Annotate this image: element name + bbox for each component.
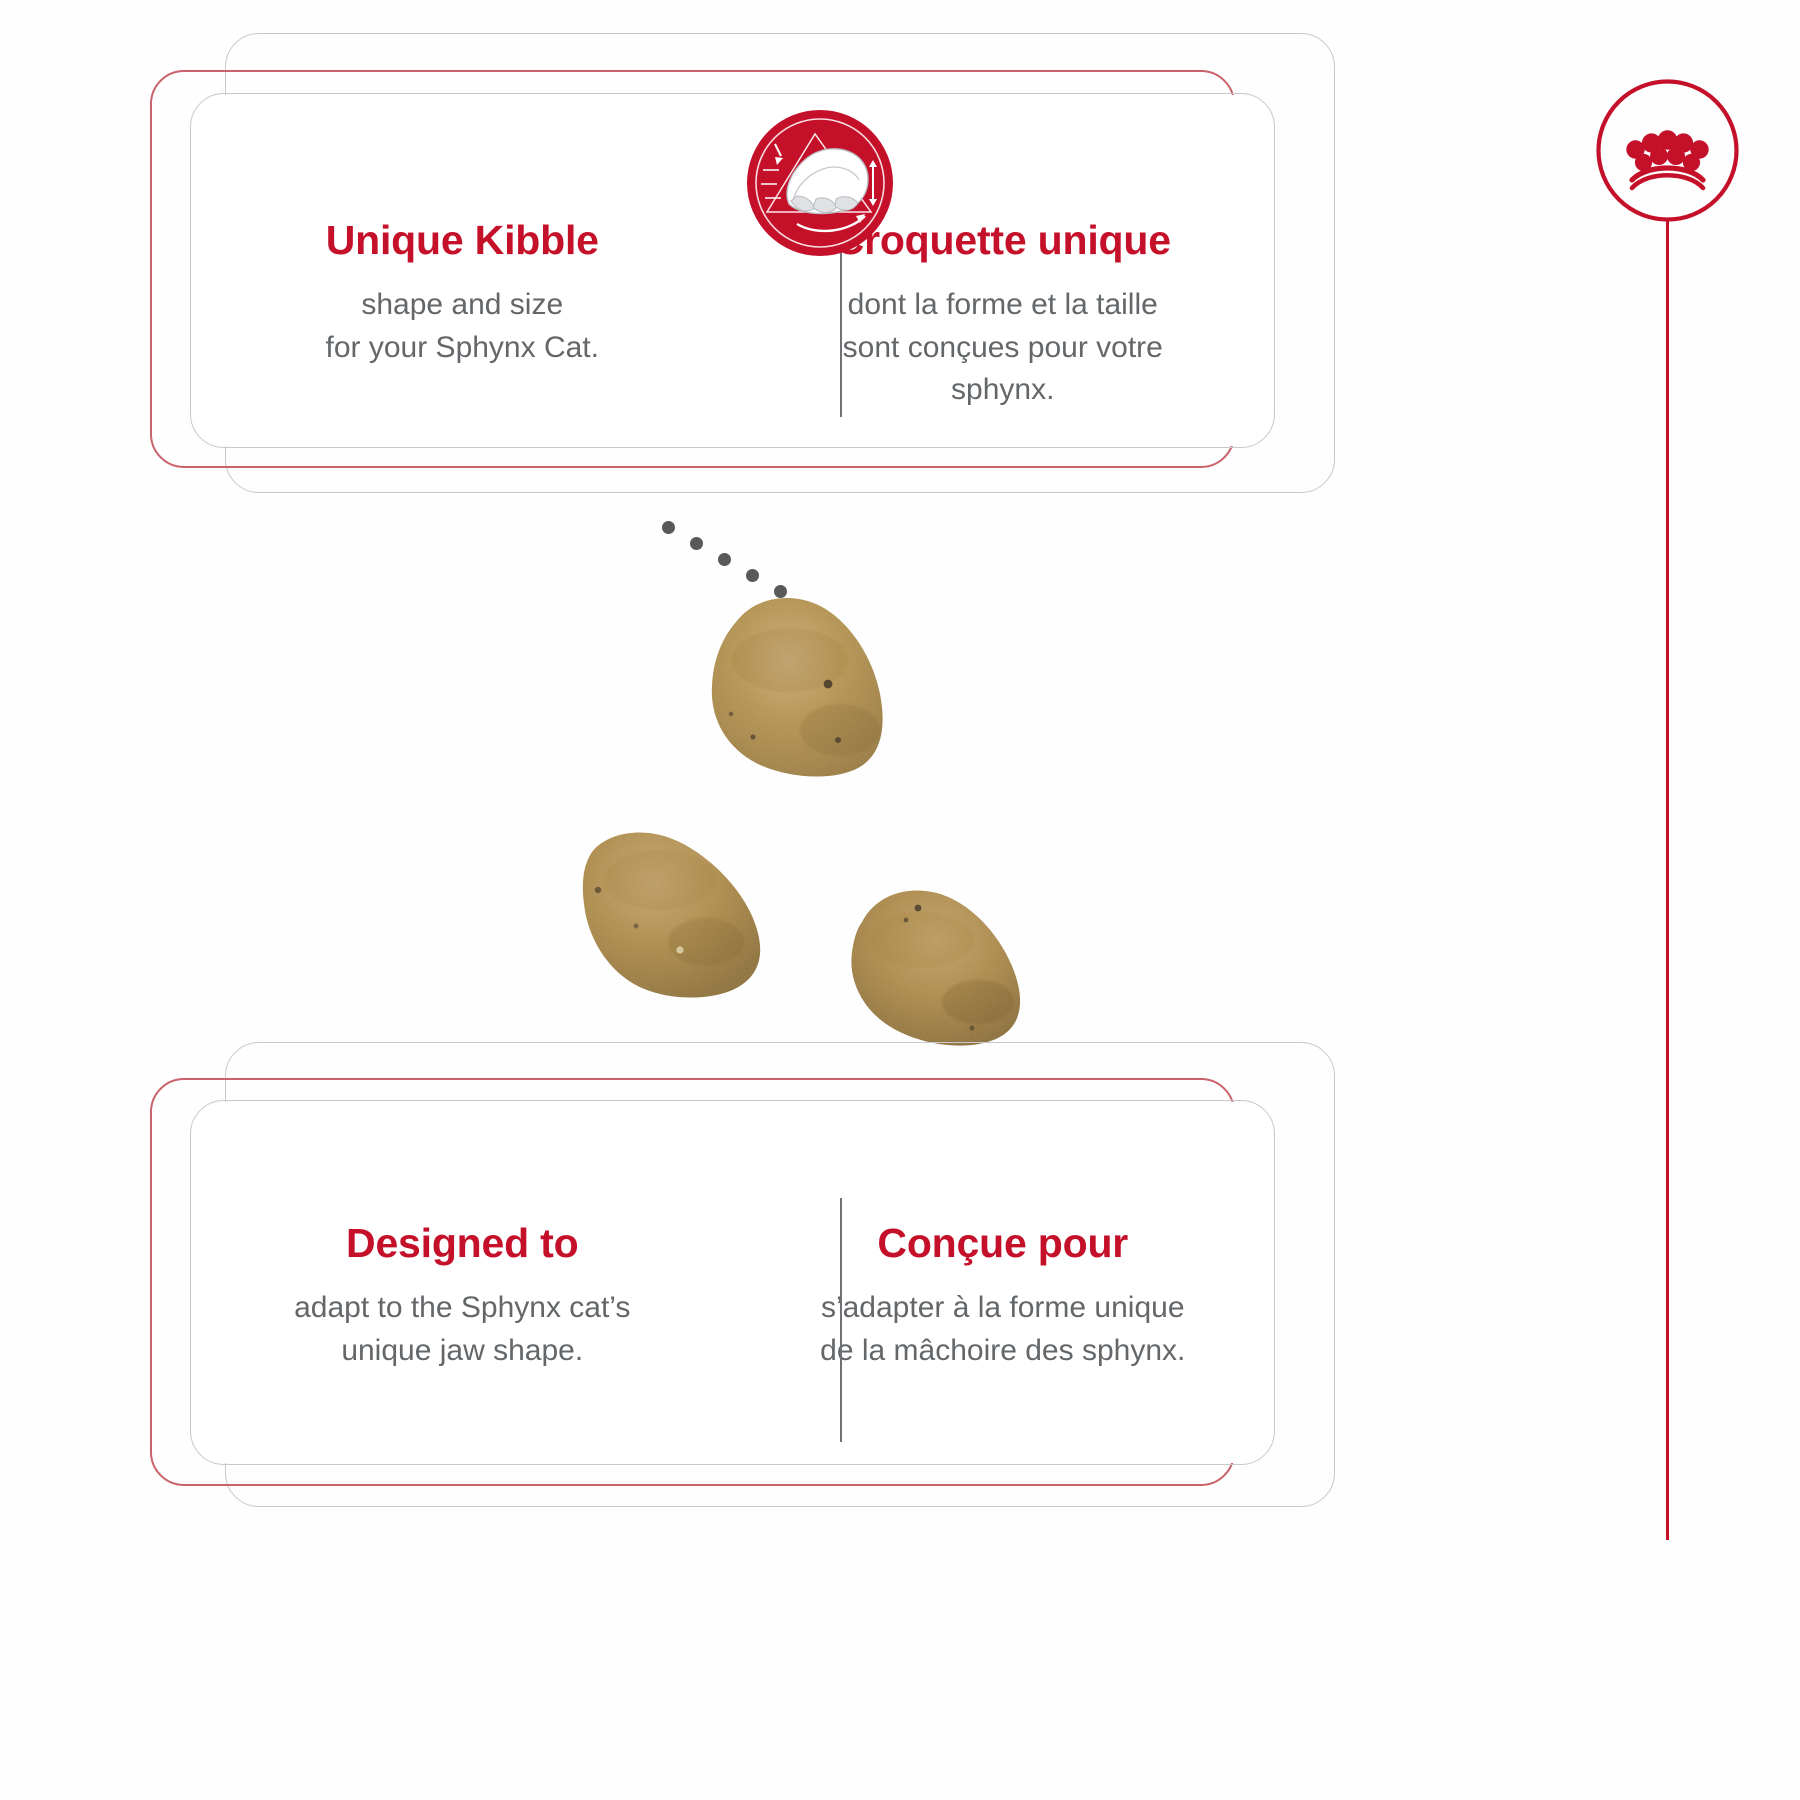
royal-canin-logo-stem [1666,220,1669,1540]
page-canvas: Unique Kibble shape and size for your Sp… [0,0,1800,1800]
top-panel-card: Unique Kibble shape and size for your Sp… [192,95,1273,446]
kibble-measurement-icon [745,108,895,258]
bottom-panel-column-french: Conçue pour s’adapter à la forme unique … [733,1102,1274,1463]
kibble-piece-3 [851,890,1020,1045]
top-panel-column-english: Unique Kibble shape and size for your Sp… [192,95,733,446]
top-panel-columns: Unique Kibble shape and size for your Sp… [192,95,1273,446]
bottom-panel-columns: Designed to adapt to the Sphynx cat’s un… [192,1102,1273,1463]
bottom-panel-heading-english: Designed to [346,1222,578,1265]
kibble-piece-2 [583,833,760,998]
bottom-panel-card: Designed to adapt to the Sphynx cat’s un… [192,1102,1273,1463]
top-panel-body-french: dont la forme et la taille sont conçues … [843,284,1163,412]
top-panel-body-english: shape and size for your Sphynx Cat. [326,284,599,369]
royal-canin-crown-icon [1595,78,1740,223]
bottom-panel-column-divider [840,1198,842,1442]
bottom-panel-body-french: s’adapter à la forme unique de la mâchoi… [820,1287,1185,1372]
bottom-panel-column-english: Designed to adapt to the Sphynx cat’s un… [192,1102,733,1463]
top-panel-heading-english: Unique Kibble [326,219,599,262]
bottom-panel-heading-french: Conçue pour [877,1222,1128,1265]
sphynx-cat-kibble-photo [540,590,1100,1060]
kibble-piece-1 [712,598,883,777]
bottom-panel-body-english: adapt to the Sphynx cat’s unique jaw sha… [294,1287,630,1372]
